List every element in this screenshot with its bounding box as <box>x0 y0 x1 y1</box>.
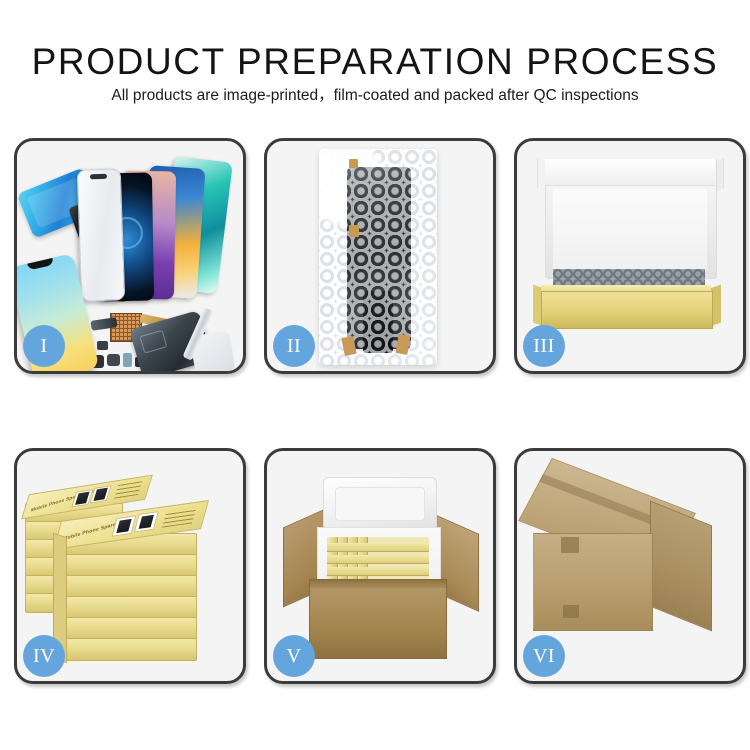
box-spec-lines-front <box>162 507 197 528</box>
box-window-screen-front-2 <box>139 515 154 529</box>
tape-piece-2 <box>349 225 359 237</box>
sealed-carton-tape-patch-bottom <box>563 605 579 618</box>
yellow-box-horizontal-3 <box>327 567 429 576</box>
box-window-front-1 <box>111 515 136 537</box>
box-window-screen-front-1 <box>116 519 131 533</box>
stacked-box-front-5 <box>63 617 197 640</box>
box-lid-top-band <box>545 159 715 186</box>
small-part-battery <box>123 353 132 367</box>
stacked-box-front-3 <box>63 575 197 598</box>
kraft-box-front <box>541 291 713 329</box>
foam-liner <box>553 189 707 271</box>
step-badge-5: V <box>273 635 315 677</box>
box-window-screen-rear-2 <box>93 488 108 501</box>
step-badge-3: III <box>523 325 565 367</box>
sealed-carton-right-face <box>650 500 712 631</box>
process-step-card-6: VI <box>514 448 746 684</box>
screen-protector-glass <box>77 168 126 301</box>
box-spec-lines-rear <box>114 481 142 498</box>
sealed-carton-tape-patch-top <box>561 537 579 553</box>
carton-body <box>309 579 447 659</box>
bubble-wrap-overlay <box>319 149 437 365</box>
sealed-carton-front-face <box>533 533 653 631</box>
page-subtitle: All products are image-printed，film-coat… <box>0 86 750 106</box>
small-part-module-2 <box>107 354 120 366</box>
process-step-grid: I II <box>0 138 750 698</box>
page-title: PRODUCT PREPARATION PROCESS <box>0 40 750 84</box>
process-step-card-2: II <box>264 138 496 374</box>
yellow-box-horizontal-2 <box>327 555 429 564</box>
process-step-card-5: V <box>264 448 496 684</box>
header: PRODUCT PREPARATION PROCESS All products… <box>0 0 750 120</box>
small-part-chip <box>97 341 108 350</box>
process-step-card-4: Mobile Phone Spare Parts <box>14 448 246 684</box>
process-step-card-1: I <box>14 138 246 374</box>
stacked-box-front-6 <box>63 638 197 661</box>
styrofoam-lid <box>323 477 437 531</box>
step-badge-1: I <box>23 325 65 367</box>
tape-piece-1 <box>349 159 358 168</box>
yellow-box-horizontal-1 <box>327 543 429 552</box>
stacked-box-front-4 <box>63 596 197 619</box>
box-window-front-2 <box>134 511 159 533</box>
step-badge-6: VI <box>523 635 565 677</box>
step-badge-4: IV <box>23 635 65 677</box>
box-window-screen-rear-1 <box>75 492 90 505</box>
sealed-carton-edge-highlight <box>533 533 534 629</box>
stacked-box-front-2 <box>63 554 197 577</box>
step-badge-2: II <box>273 325 315 367</box>
product-preparation-infographic: PRODUCT PREPARATION PROCESS All products… <box>0 0 750 750</box>
process-step-card-3: III <box>514 138 746 374</box>
box-window-rear-1 <box>71 489 93 507</box>
